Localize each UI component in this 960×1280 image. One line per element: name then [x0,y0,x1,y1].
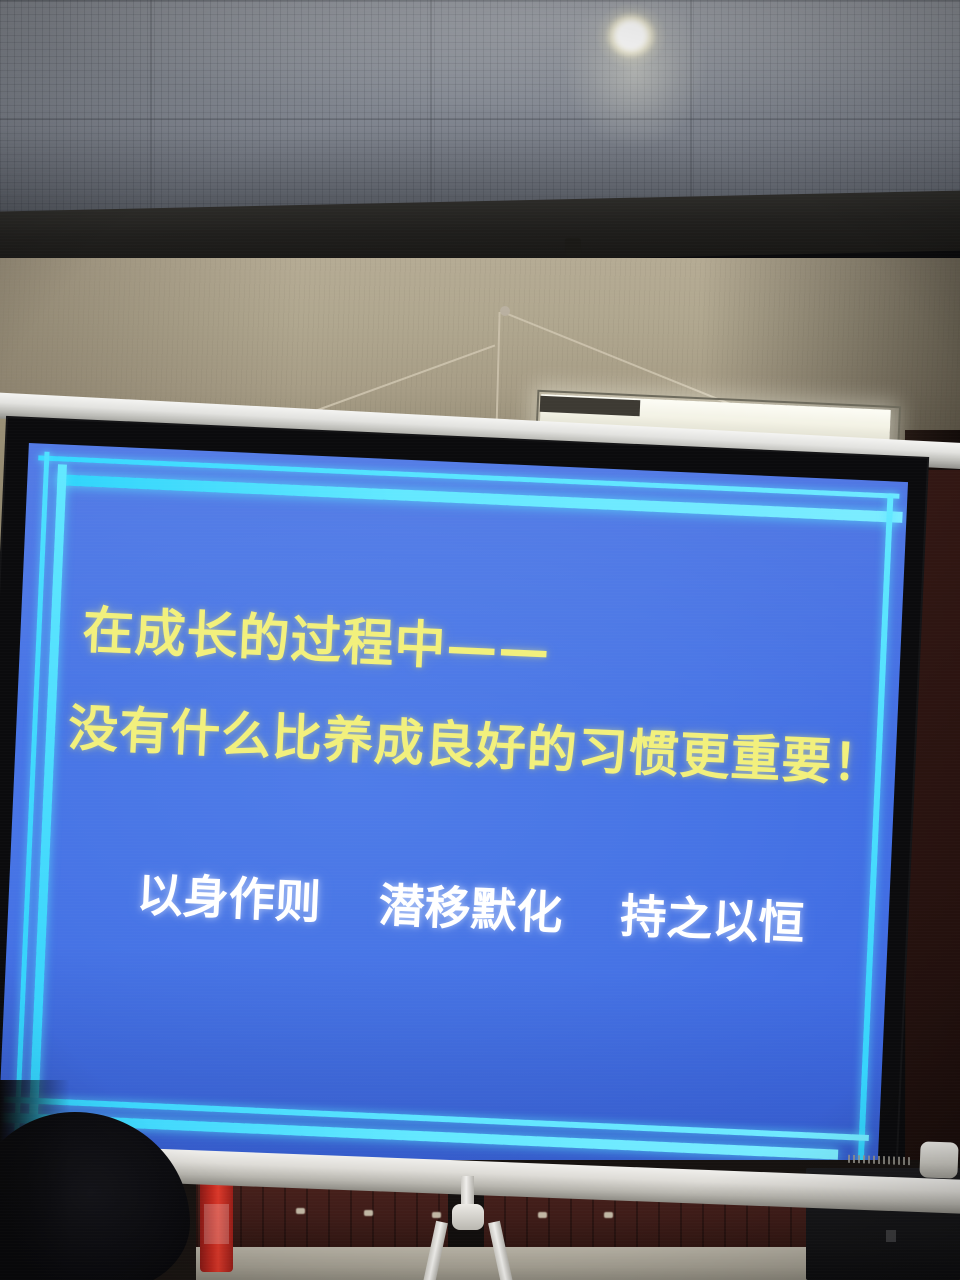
slide-phrase-row: 以身作则潜移默化持之以恒 [136,858,806,954]
fire-extinguisher-label [204,1204,229,1244]
ceiling-beam-fitting [565,238,581,256]
slide-phrase-1: 以身作则 [136,867,322,929]
slide-phrase-3: 持之以恒 [619,889,805,951]
left-dark-edge [0,1080,70,1280]
wire-hook [500,306,510,316]
photo-scene: 在成长的过程中—— 没有什么比养成良好的习惯更重要！ 以身作则潜移默化持之以恒 [0,0,960,1280]
slide-heading-line-1: 在成长的过程中—— [81,589,552,684]
wall-highlight [364,1210,373,1216]
wall-highlight [432,1212,441,1218]
phrase-spacer [320,918,378,921]
ceiling-light-core [608,16,654,60]
projector-screen-frame: 在成长的过程中—— 没有什么比养成良好的习惯更重要！ 以身作则潜移默化持之以恒 [0,418,927,1198]
slide-text-block: 在成长的过程中—— 没有什么比养成良好的习惯更重要！ 以身作则潜移默化持之以恒 [0,443,908,1181]
wall-highlight [604,1212,613,1218]
loudspeaker-badge [886,1230,896,1242]
screen-bar-endcap [919,1141,958,1178]
phrase-spacer [562,929,620,932]
floor [196,1247,836,1280]
wall-highlight [538,1212,547,1218]
slide-heading-line-2: 没有什么比养成良好的习惯更重要！ [67,688,885,796]
slide-phrase-2: 潜移默化 [377,878,563,940]
wall-highlight [296,1208,305,1214]
tripod-hub [452,1204,484,1230]
projected-slide: 在成长的过程中—— 没有什么比养成良好的习惯更重要！ 以身作则潜移默化持之以恒 [0,443,908,1181]
